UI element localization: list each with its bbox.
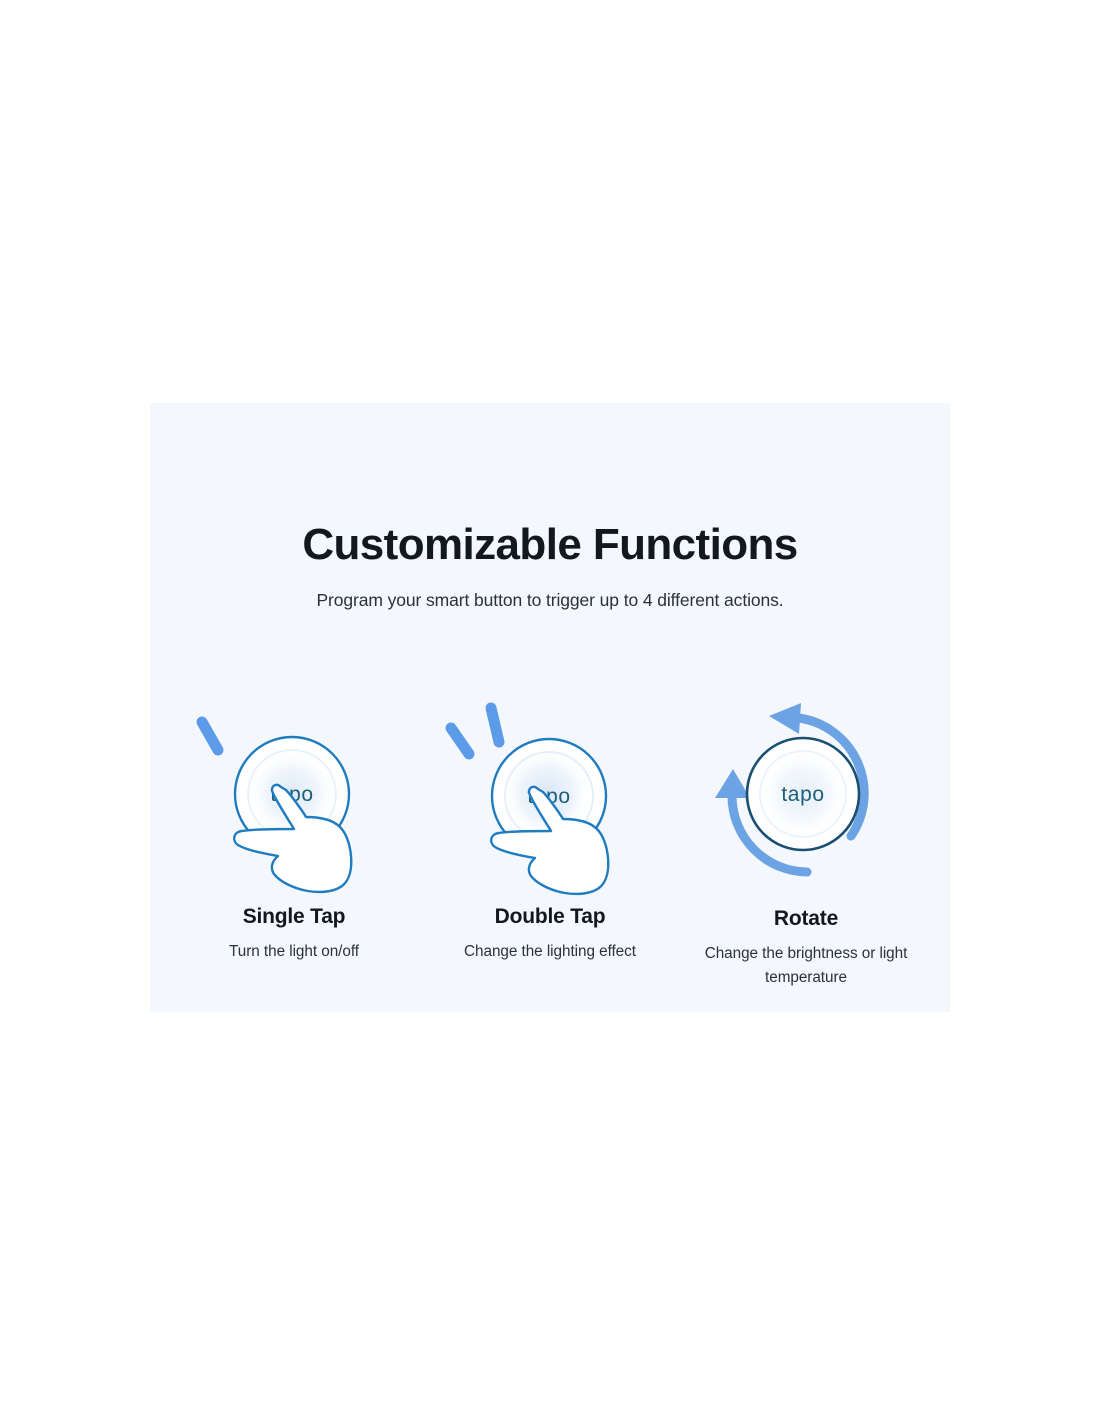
customizable-functions-panel: Customizable Functions Program your smar… (150, 403, 950, 1012)
feature-single-tap: tapo Single Tap Turn the light on/off (166, 686, 422, 964)
feature-double-tap: tapo Double Tap Change the lighting effe… (422, 686, 678, 964)
page-title: Customizable Functions (150, 403, 950, 568)
tapo-logo-text: tapo (781, 783, 824, 806)
feature-description-single-tap: Turn the light on/off (229, 929, 359, 964)
feature-description-rotate: Change the brightness or light temperatu… (701, 931, 911, 989)
feature-title-rotate: Rotate (774, 906, 838, 931)
features-row: tapo Single Tap Turn the light on/off (150, 686, 950, 990)
feature-title-single-tap: Single Tap (243, 904, 346, 929)
feature-rotate: tapo Rotate Change the brightness or lig… (678, 686, 934, 990)
rotate-icon: tapo (691, 686, 921, 904)
single-tap-icon: tapo (180, 686, 410, 904)
tap-indicator-bar (202, 722, 218, 750)
page-subtitle: Program your smart button to trigger up … (150, 568, 950, 611)
panel-header: Customizable Functions Program your smar… (150, 403, 950, 611)
tap-indicator-bars (451, 708, 499, 754)
feature-description-double-tap: Change the lighting effect (464, 929, 636, 964)
double-tap-icon: tapo (437, 686, 667, 904)
feature-title-double-tap: Double Tap (495, 904, 606, 929)
